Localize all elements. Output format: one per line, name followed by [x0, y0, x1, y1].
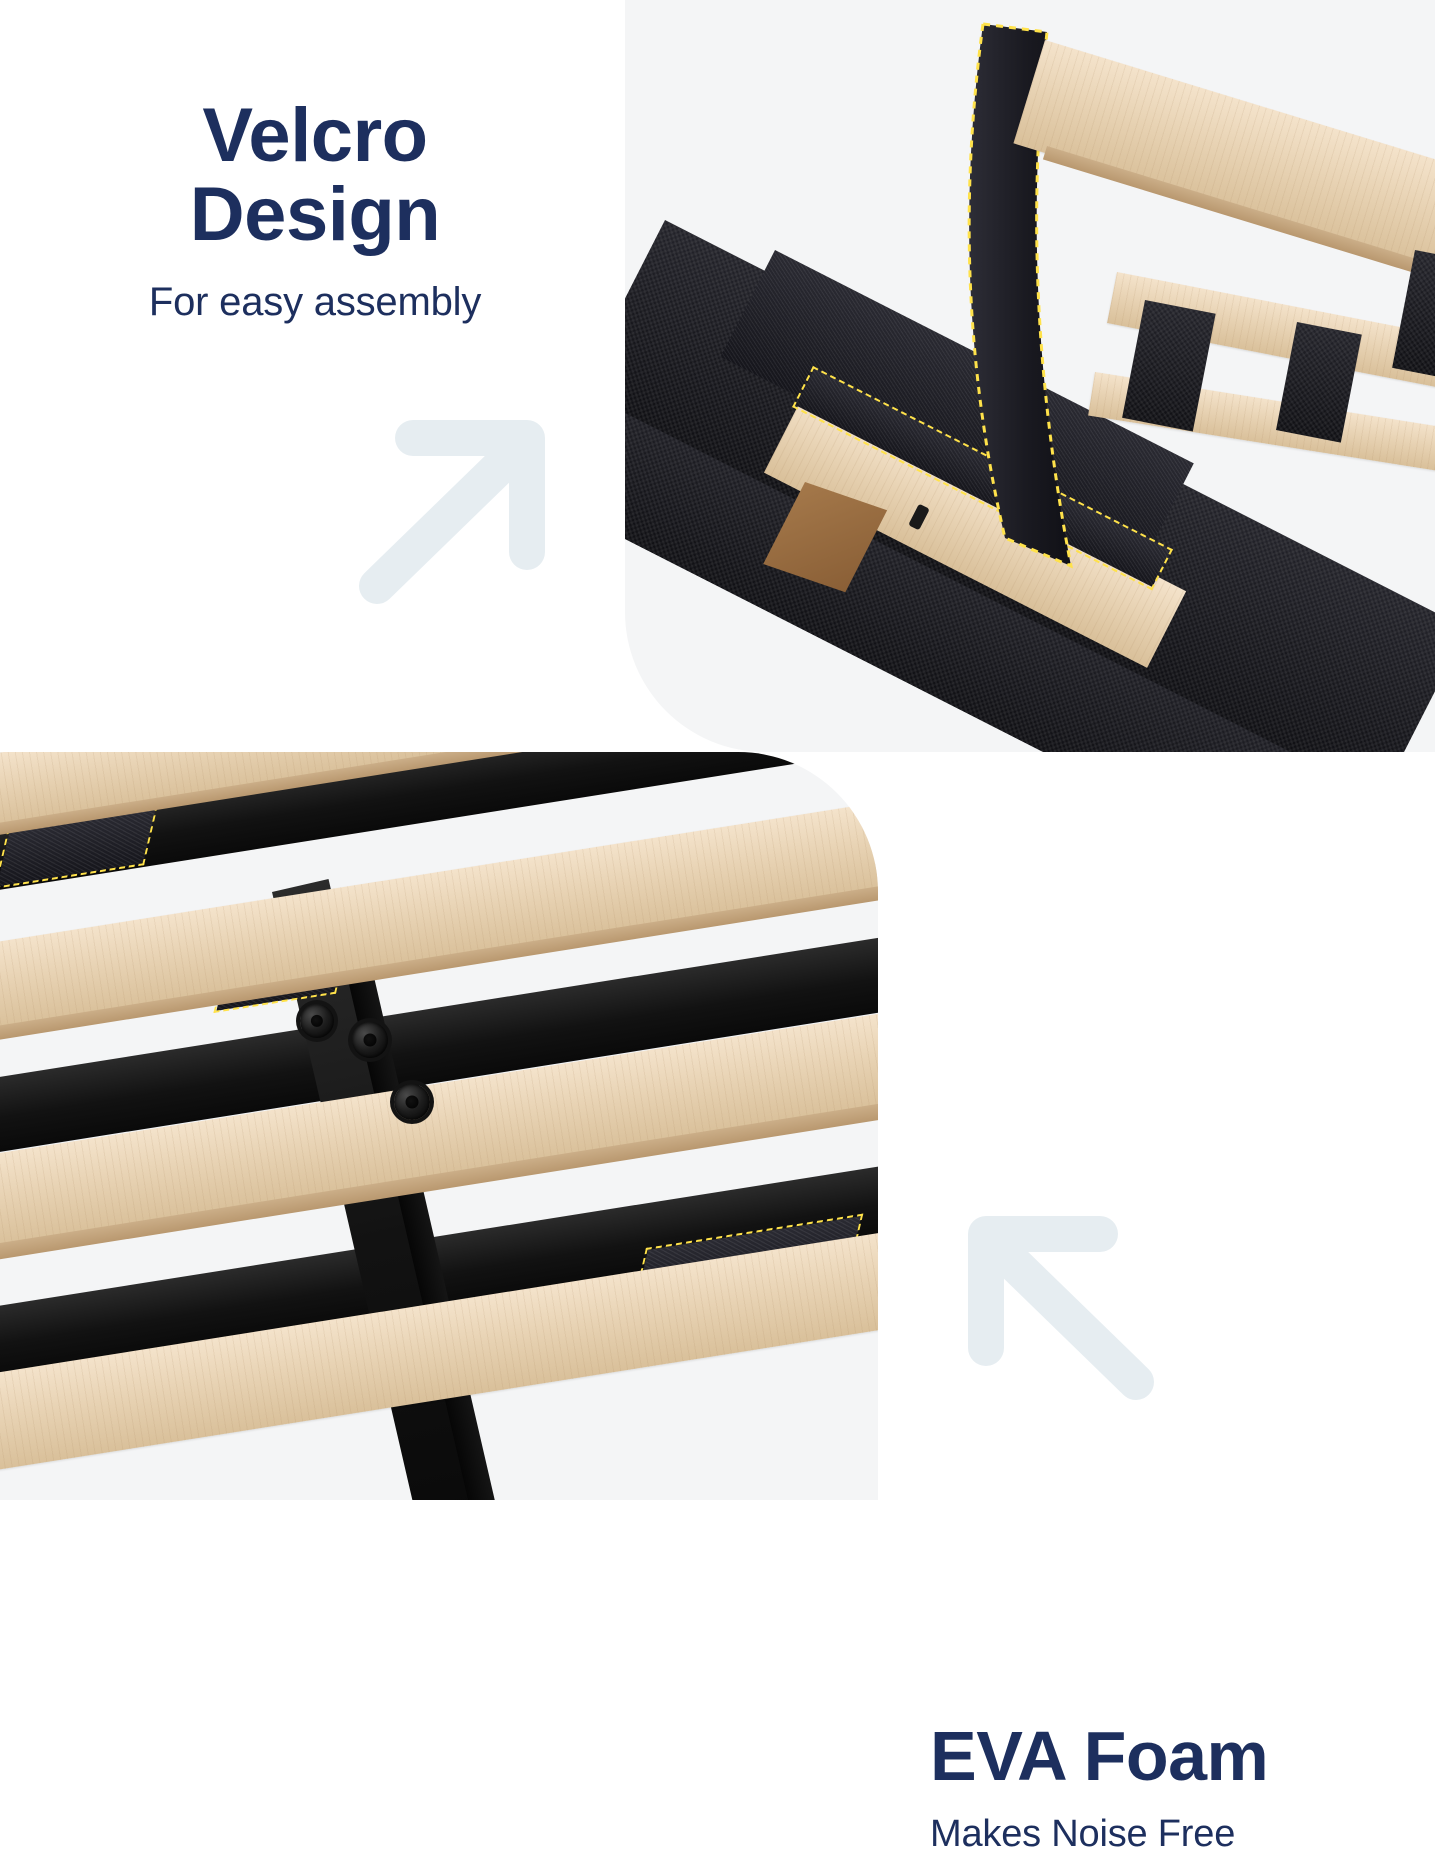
- velcro-headline: Velcro Design: [100, 96, 530, 254]
- eva-copy-block: EVA Foam Makes Noise Free: [930, 1720, 1390, 1856]
- eva-photo: [0, 752, 878, 1500]
- bolt-upper: [300, 1004, 334, 1038]
- eva-headline: EVA Foam: [930, 1720, 1390, 1793]
- velcro-photo: [625, 0, 1435, 752]
- arrow-up-left-icon: [948, 1204, 1158, 1404]
- bolt-center: [352, 1022, 388, 1058]
- velcro-headline-line2: Design: [100, 175, 530, 254]
- eva-subhead: Makes Noise Free: [930, 1813, 1390, 1856]
- velcro-headline-line1: Velcro: [100, 96, 530, 175]
- arrow-up-right-icon: [355, 408, 565, 608]
- bolt-lower: [394, 1084, 430, 1120]
- velcro-subhead: For easy assembly: [100, 280, 530, 325]
- velcro-feature-section: Velcro Design For easy assembly: [0, 0, 1435, 752]
- velcro-copy-block: Velcro Design For easy assembly: [100, 96, 530, 325]
